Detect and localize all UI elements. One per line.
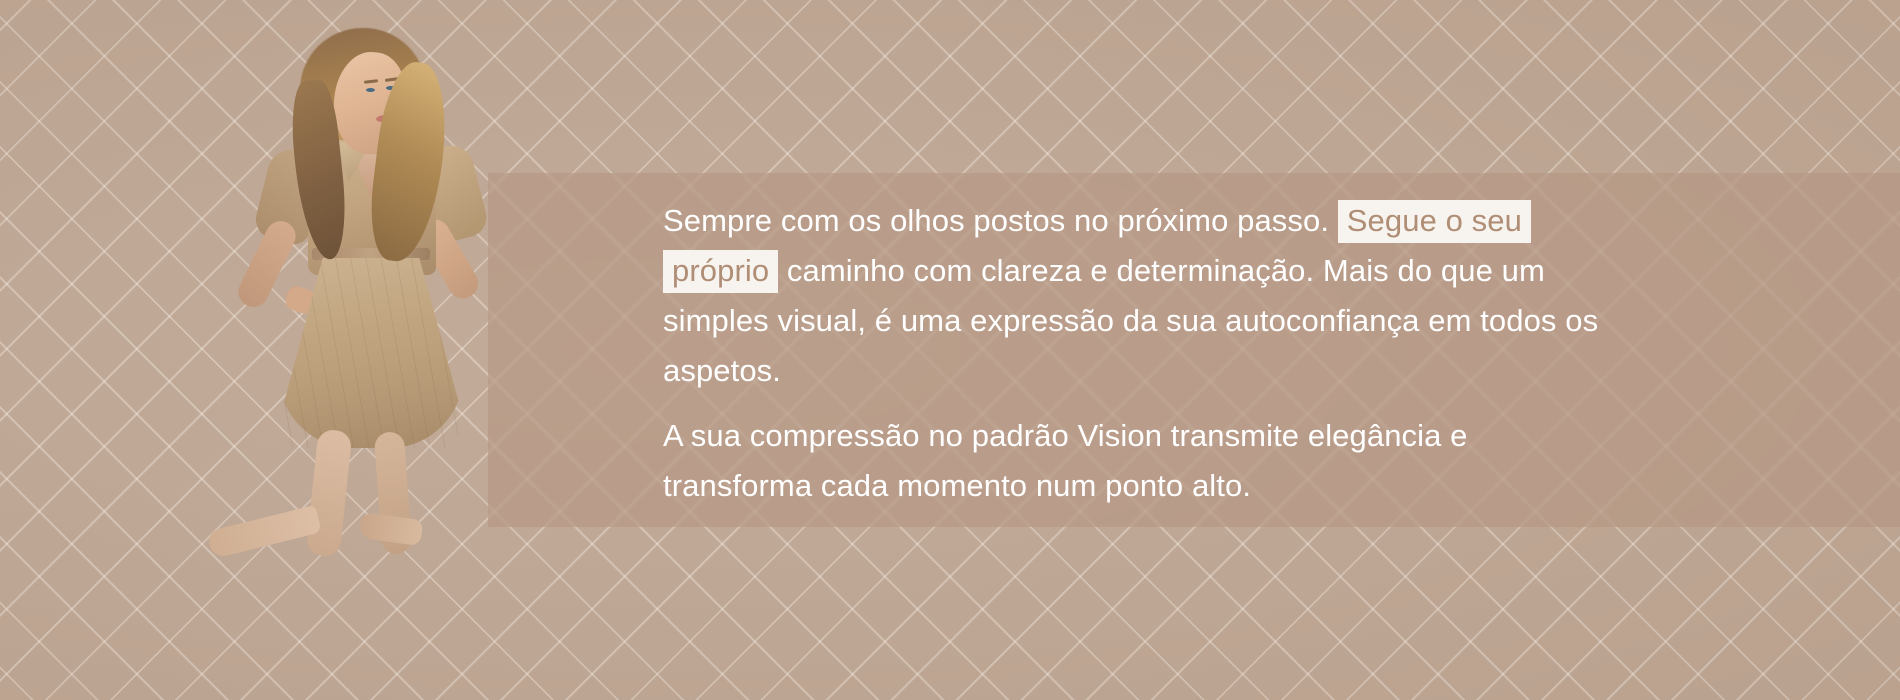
model-skirt-texture xyxy=(278,258,464,448)
model-foot-left xyxy=(206,505,321,559)
model-eye-left xyxy=(366,88,375,92)
paragraph-secondary: A sua compressão no padrão Vision transm… xyxy=(663,411,1613,511)
paragraph-primary: Sempre com os olhos postos no próximo pa… xyxy=(663,196,1613,396)
paragraph-lead-text: Sempre com os olhos postos no próximo pa… xyxy=(663,203,1338,238)
model-photo xyxy=(200,20,530,660)
highlight-proprio: próprio xyxy=(663,250,778,293)
hero-banner: Sempre com os olhos postos no próximo pa… xyxy=(0,0,1900,700)
highlight-segue-o-seu: Segue o seu xyxy=(1338,200,1531,243)
copy-block: Sempre com os olhos postos no próximo pa… xyxy=(663,196,1613,511)
model-foot-right xyxy=(358,512,423,546)
paragraph-tail-text: caminho com clareza e determinação. Mais… xyxy=(663,253,1598,388)
